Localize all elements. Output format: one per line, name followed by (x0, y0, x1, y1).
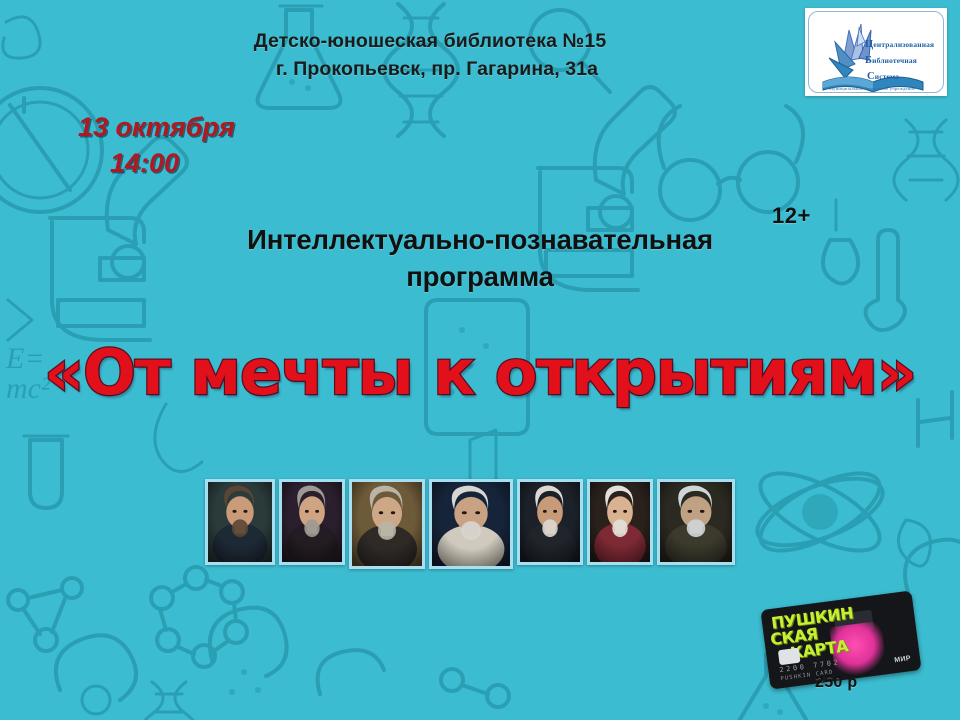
portrait-scientist (657, 479, 735, 565)
event-subtitle-line-1: Интеллектуально-познавательная (110, 222, 850, 259)
library-logo: Централизованная Библиотечная Система Му… (805, 8, 947, 96)
payment-system-logo: МИР (894, 655, 912, 664)
poster-canvas: E= mc² (0, 0, 960, 720)
card-chip (778, 648, 801, 666)
scientist-portrait-strip (205, 479, 735, 569)
header-line-2: г. Прокопьевск, пр. Гагарина, 31а (0, 56, 860, 84)
portrait-mendeleev (429, 479, 513, 569)
logo-word-1: Централизованная (865, 39, 934, 50)
portrait-lomonosov (587, 479, 653, 565)
library-header: Детско-юношеская библиотека №15 г. Проко… (0, 28, 860, 83)
event-time: 14:00 (78, 146, 235, 182)
event-subtitle-line-2: программа (110, 259, 850, 296)
event-title: «От мечты к открытиям» (0, 336, 960, 409)
logo-word-2: Библиотечная (865, 55, 917, 66)
pushkin-card-badge: ПУШКИН СКАЯ КАРТА 2200 7702 PUSHKIN CARD… (765, 600, 930, 688)
portrait-yablochkov (279, 479, 345, 565)
event-date-block: 13 октября 14:00 (78, 110, 235, 182)
logo-subtitle: Муниципальное бюджетное учреждение (829, 86, 915, 91)
event-subtitle: Интеллектуально-познавательная программа (110, 222, 850, 295)
header-line-1: Детско-юношеская библиотека №15 (0, 28, 860, 56)
portrait-sechenov (517, 479, 583, 565)
logo-word-3: Система (867, 71, 899, 82)
event-date: 13 октября (78, 112, 235, 142)
portrait-popov (205, 479, 275, 565)
portrait-mendeleev-desk (349, 479, 425, 569)
card-price: 250 р (815, 674, 857, 692)
